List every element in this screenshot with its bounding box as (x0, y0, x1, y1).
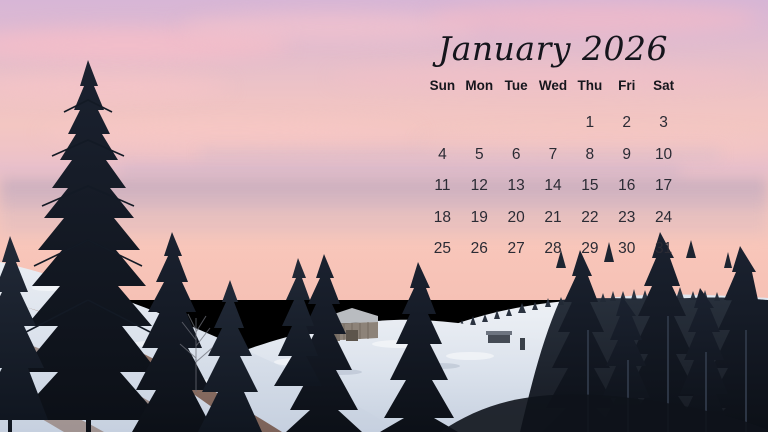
calendar-day: 1 (571, 112, 608, 134)
calendar-day-empty (498, 112, 535, 134)
calendar-grid: Sun Mon Tue Wed Thu Fri Sat 1 2 3 4 5 6 … (424, 78, 682, 261)
calendar-day: 17 (645, 175, 682, 197)
calendar-day: 30 (608, 238, 645, 260)
fence-post (520, 338, 525, 350)
calendar-day: 6 (498, 144, 535, 166)
calendar-day: 18 (424, 207, 461, 229)
weekday-header-wed: Wed (535, 78, 572, 103)
barn-wall-shadow (322, 322, 340, 341)
calendar-day: 25 (424, 238, 461, 260)
barn-door (346, 330, 358, 341)
outbuilding (488, 334, 510, 343)
calendar-day: 28 (535, 238, 572, 260)
calendar-day: 8 (571, 144, 608, 166)
calendar-title: January 2026 (424, 32, 682, 65)
calendar-day: 27 (498, 238, 535, 260)
outbuilding-roof (486, 331, 512, 335)
calendar-day: 24 (645, 207, 682, 229)
barn-roof (322, 308, 378, 324)
calendar-day: 20 (498, 207, 535, 229)
barn (322, 308, 378, 341)
calendar-day: 21 (535, 207, 572, 229)
calendar-day: 19 (461, 207, 498, 229)
calendar-day: 10 (645, 144, 682, 166)
calendar-day: 22 (571, 207, 608, 229)
calendar-day: 16 (608, 175, 645, 197)
calendar-day: 12 (461, 175, 498, 197)
calendar-day-empty (424, 112, 461, 134)
calendar-day: 14 (535, 175, 572, 197)
calendar-day: 3 (645, 112, 682, 134)
weekday-header-fri: Fri (608, 78, 645, 103)
calendar-widget: January 2026 Sun Mon Tue Wed Thu Fri Sat… (424, 32, 682, 261)
calendar-day: 9 (608, 144, 645, 166)
calendar-day: 5 (461, 144, 498, 166)
calendar-day: 11 (424, 175, 461, 197)
calendar-wallpaper: January 2026 Sun Mon Tue Wed Thu Fri Sat… (0, 0, 768, 432)
weekday-header-mon: Mon (461, 78, 498, 103)
calendar-day: 13 (498, 175, 535, 197)
calendar-day-empty (461, 112, 498, 134)
calendar-day: 2 (608, 112, 645, 134)
calendar-day: 7 (535, 144, 572, 166)
calendar-day-empty (535, 112, 572, 134)
calendar-day: 4 (424, 144, 461, 166)
right-forest-mass (520, 297, 768, 432)
calendar-day: 15 (571, 175, 608, 197)
calendar-day: 31 (645, 238, 682, 260)
weekday-header-sat: Sat (645, 78, 682, 103)
calendar-day: 23 (608, 207, 645, 229)
calendar-day: 26 (461, 238, 498, 260)
calendar-day: 29 (571, 238, 608, 260)
weekday-header-thu: Thu (571, 78, 608, 103)
weekday-header-tue: Tue (498, 78, 535, 103)
weekday-header-sun: Sun (424, 78, 461, 103)
